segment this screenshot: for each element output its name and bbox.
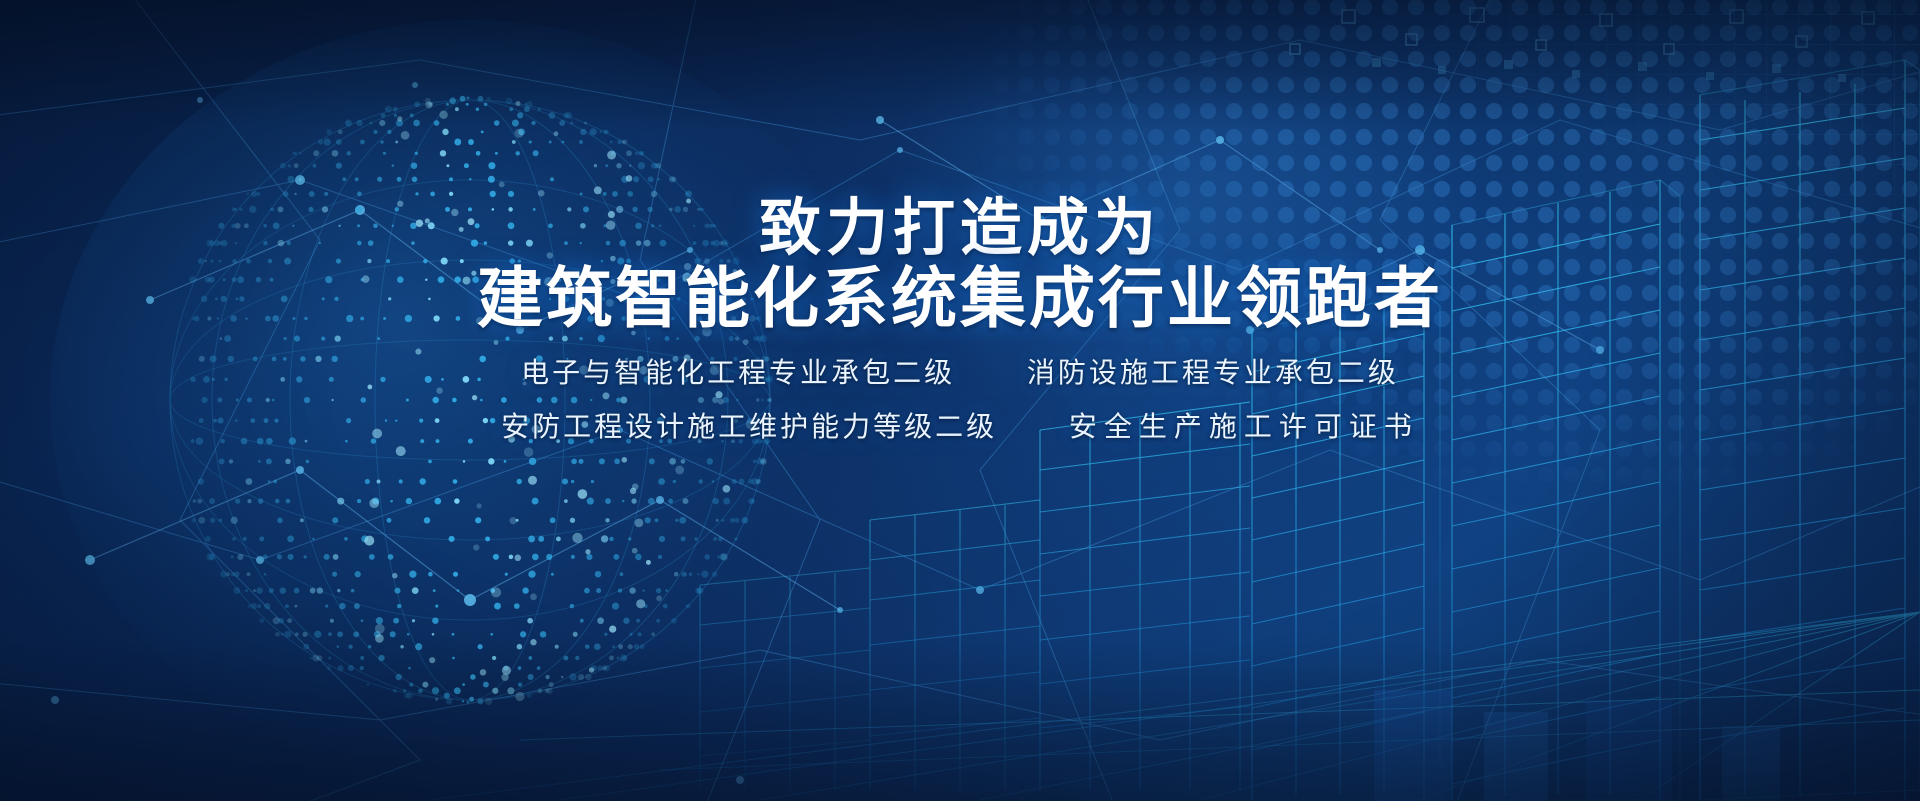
hero-copy: 致力打造成为 建筑智能化系统集成行业领跑者 电子与智能化工程专业承包二级 消防设…	[0, 196, 1920, 445]
qualification-row1-right: 消防设施工程专业承包二级	[1027, 351, 1399, 391]
glow-panels	[1374, 690, 1780, 801]
qualification-row1-left: 电子与智能化工程专业承包二级	[521, 351, 955, 391]
headline-line-2: 建筑智能化系统集成行业领跑者	[0, 265, 1920, 332]
digital-blocks	[1290, 8, 1874, 54]
digital-grid-overlay	[1382, 0, 1920, 208]
qualification-row2-right: 安全生产施工许可证书	[1069, 405, 1419, 445]
headline-line-1: 致力打造成为	[0, 196, 1920, 259]
qualification-row2-left: 安防工程设计施工维护能力等级二级	[501, 405, 997, 445]
digital-blocks-filled	[1372, 58, 1846, 82]
qualification-row-2: 安防工程设计施工维护能力等级二级 安全生产施工许可证书	[0, 405, 1920, 445]
hero-banner: 致力打造成为 建筑智能化系统集成行业领跑者 电子与智能化工程专业承包二级 消防设…	[0, 0, 1920, 801]
qualification-row-1: 电子与智能化工程专业承包二级 消防设施工程专业承包二级	[0, 351, 1920, 391]
